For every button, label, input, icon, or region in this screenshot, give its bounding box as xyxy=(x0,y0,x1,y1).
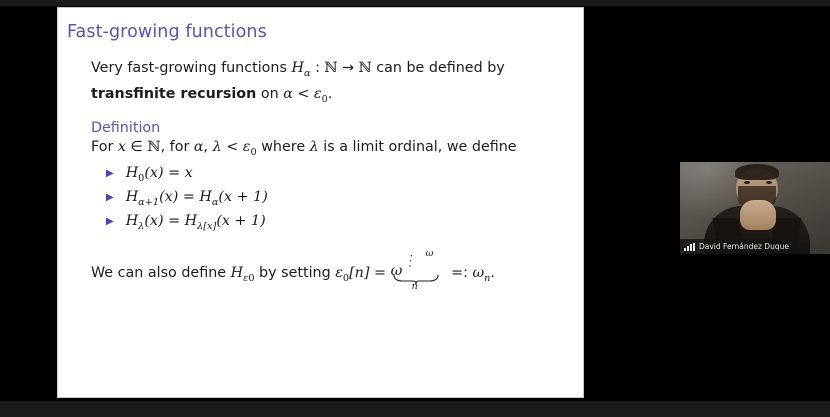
math-lt: < xyxy=(293,86,314,102)
closing-formula: We can also define Hε0 by setting ε0[n] … xyxy=(91,263,495,284)
bullet-item-2: ▶ Hλ(x) = Hλ[x](x + 1) xyxy=(106,213,268,237)
math-lambda-2: λ xyxy=(310,139,319,155)
lead-where: where xyxy=(257,139,310,155)
triangle-bullet-icon: ▶ xyxy=(106,169,114,179)
lead-for: For xyxy=(91,139,118,155)
math-lambda: λ xyxy=(213,139,222,155)
participant-name-bar: David Fernández Duque xyxy=(680,239,798,254)
math-epsilon: ε xyxy=(314,86,322,102)
closing-equals: = xyxy=(369,265,390,281)
triangle-bullet-icon: ▶ xyxy=(106,193,114,203)
eq2-arg: (x) xyxy=(144,213,163,229)
math-alpha: α xyxy=(283,86,293,102)
equation-2: Hλ(x) = Hλ[x](x + 1) xyxy=(126,213,266,232)
math-naturals: ℕ xyxy=(148,139,161,155)
definition-lead-line: For x ∈ ℕ, for α, λ < ε0 where λ is a li… xyxy=(91,139,517,158)
bottom-chrome-strip xyxy=(0,401,830,417)
closing-bracket-n: [n] xyxy=(349,265,369,281)
definition-heading: Definition xyxy=(91,120,160,136)
participant-hair xyxy=(735,164,779,180)
intro-line-2: transfinite recursion on α < ε0. xyxy=(91,84,561,110)
math-elem-of: ∈ xyxy=(126,139,148,155)
closing-H: H xyxy=(231,265,243,281)
eq1-equals: = xyxy=(178,189,199,205)
power-tower-notation: ω ⋰ ω n xyxy=(391,263,447,277)
math-arrow: → xyxy=(338,60,359,76)
math-naturals-2: ℕ xyxy=(359,60,372,76)
lead-comma: , xyxy=(204,139,213,155)
lead-tail: is a limit ordinal, we define xyxy=(319,139,517,155)
tower-diagonal-dots: ⋰ xyxy=(402,252,419,270)
participant-hands xyxy=(740,200,776,230)
closing-epsilon: ε xyxy=(335,265,343,281)
math-alpha: α xyxy=(194,139,204,155)
eq1-rhs-H: H xyxy=(199,189,211,205)
participant-video-tile[interactable]: David Fernández Duque xyxy=(680,162,830,254)
equation-1: Hα+1(x) = Hα(x + 1) xyxy=(126,189,268,208)
triangle-bullet-icon: ▶ xyxy=(106,217,114,227)
transfinite-recursion-term: transfinite recursion xyxy=(91,86,256,102)
eq0-H: H xyxy=(126,165,138,181)
bullet-item-0: ▶ H0(x) = x xyxy=(106,165,268,189)
math-lt: < xyxy=(222,139,243,155)
eq2-equals: = xyxy=(164,213,185,229)
shared-slide[interactable]: Fast-growing functions Very fast-growing… xyxy=(57,7,584,398)
eq0-rhs: x xyxy=(185,165,193,181)
eq2-rhs: (x + 1) xyxy=(216,213,265,229)
closing-pre: We can also define xyxy=(91,265,231,281)
bullet-item-1: ▶ Hα+1(x) = Hα(x + 1) xyxy=(106,189,268,213)
eq0-equals: = xyxy=(164,165,185,181)
presentation-viewer: Fast-growing functions Very fast-growing… xyxy=(0,0,830,417)
slide-title: Fast-growing functions xyxy=(67,22,267,42)
eq1-sub: α+1 xyxy=(138,197,159,208)
eq1-rhs: (x + 1) xyxy=(218,189,267,205)
closing-mid: by setting xyxy=(255,265,336,281)
intro-text-pre: Very fast-growing functions xyxy=(91,60,291,76)
eq0-arg: (x) xyxy=(144,165,163,181)
closing-period: . xyxy=(490,265,495,281)
participant-name: David Fernández Duque xyxy=(699,242,789,251)
top-chrome-strip xyxy=(0,0,830,6)
eq1-H: H xyxy=(126,189,138,205)
intro-period: . xyxy=(328,86,333,102)
intro-text-post: can be defined by xyxy=(372,60,505,76)
math-naturals-1: ℕ xyxy=(324,60,337,76)
tower-count-label: n xyxy=(412,281,418,292)
equation-0: H0(x) = x xyxy=(126,165,193,184)
eq2-rhs-H: H xyxy=(185,213,197,229)
math-colon: : xyxy=(311,60,325,76)
tower-top-omega: ω xyxy=(426,248,434,259)
participant-eye-left xyxy=(744,181,750,184)
closing-omega: ω xyxy=(472,265,484,281)
lead-mid: , for xyxy=(161,139,194,155)
closing-defeq: =: xyxy=(447,265,473,281)
intro-paragraph: Very fast-growing functions Hα : ℕ → ℕ c… xyxy=(91,58,561,110)
math-x: x xyxy=(118,139,126,155)
signal-bars-icon xyxy=(684,243,695,251)
eq2-rhs-sub: λ[x] xyxy=(197,221,216,232)
eq2-H: H xyxy=(126,213,138,229)
definition-bullet-list: ▶ H0(x) = x ▶ Hα+1(x) = Hα(x + 1) ▶ Hλ(x… xyxy=(106,165,268,237)
math-H-subscript: α xyxy=(304,68,311,79)
intro-line-1: Very fast-growing functions Hα : ℕ → ℕ c… xyxy=(91,58,561,84)
math-H: H xyxy=(291,60,303,76)
intro-on: on xyxy=(256,86,283,102)
participant-eye-right xyxy=(766,181,772,184)
eq1-arg: (x) xyxy=(159,189,178,205)
